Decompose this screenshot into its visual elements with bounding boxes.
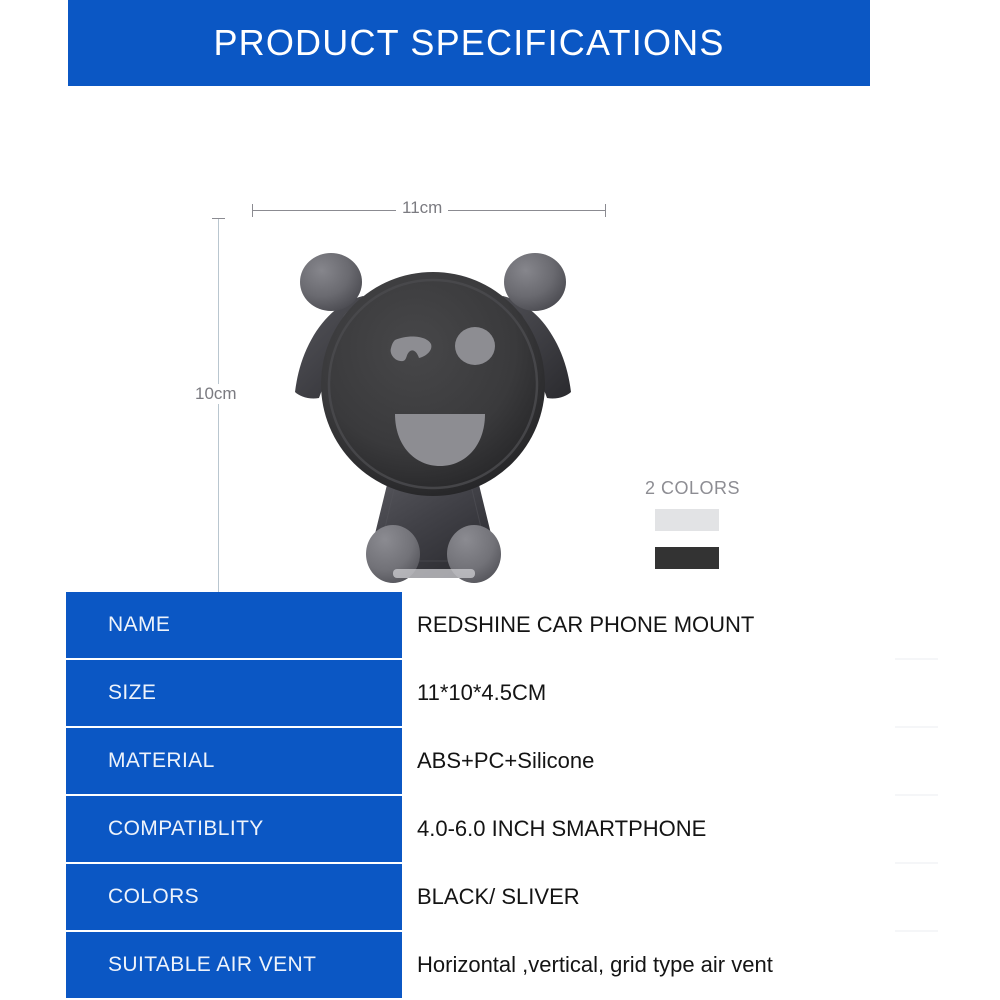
table-row: SIZE11*10*4.5CM: [66, 660, 938, 726]
left-arm-ball-tip: [300, 253, 362, 311]
spec-value-cell: 4.0-6.0 INCH SMARTPHONE: [402, 796, 938, 862]
color-options-title: 2 COLORS: [645, 478, 775, 499]
height-dimension-cap-top: [212, 218, 225, 219]
spec-label-cell: MATERIAL: [66, 728, 402, 794]
spec-value-cell: ABS+PC+Silicone: [402, 728, 938, 794]
black-swatch[interactable]: [655, 547, 719, 569]
color-options-block: 2 COLORS: [645, 478, 775, 585]
spec-label-cell: SUITABLE AIR VENT: [66, 932, 402, 998]
foot-base-bar: [393, 569, 475, 578]
height-dimension-label: 10cm: [189, 384, 243, 404]
page-header-banner: PRODUCT SPECIFICATIONS: [68, 0, 870, 86]
table-row: COMPATIBLITY4.0-6.0 INCH SMARTPHONE: [66, 796, 938, 862]
product-diagram-area: 11cm 10cm 4.5cm: [0, 86, 1000, 576]
product-image-smiley-car-mount: [243, 224, 623, 604]
spec-label-cell: COMPATIBLITY: [66, 796, 402, 862]
specifications-table: NAMEREDSHINE CAR PHONE MOUNTSIZE11*10*4.…: [66, 592, 938, 1000]
height-dimension-line: [218, 218, 219, 608]
spec-value-cell: Horizontal ,vertical, grid type air vent: [402, 932, 938, 998]
spec-value-cell: 11*10*4.5CM: [402, 660, 938, 726]
spec-label-cell: NAME: [66, 592, 402, 658]
right-eye-icon: [455, 327, 495, 365]
table-row: NAMEREDSHINE CAR PHONE MOUNT: [66, 592, 938, 658]
right-arm-ball-tip: [504, 253, 566, 311]
table-row: SUITABLE AIR VENTHorizontal ,vertical, g…: [66, 932, 938, 998]
spec-value-cell: REDSHINE CAR PHONE MOUNT: [402, 592, 938, 658]
table-row: MATERIALABS+PC+Silicone: [66, 728, 938, 794]
silver-swatch[interactable]: [655, 509, 719, 531]
spec-label-cell: COLORS: [66, 864, 402, 930]
spec-value-cell: BLACK/ SLIVER: [402, 864, 938, 930]
width-dimension-cap-left: [252, 204, 253, 217]
spec-label-cell: SIZE: [66, 660, 402, 726]
width-dimension-cap-right: [605, 204, 606, 217]
width-dimension-label: 11cm: [396, 198, 448, 218]
page-title: PRODUCT SPECIFICATIONS: [213, 22, 724, 64]
table-row: COLORSBLACK/ SLIVER: [66, 864, 938, 930]
